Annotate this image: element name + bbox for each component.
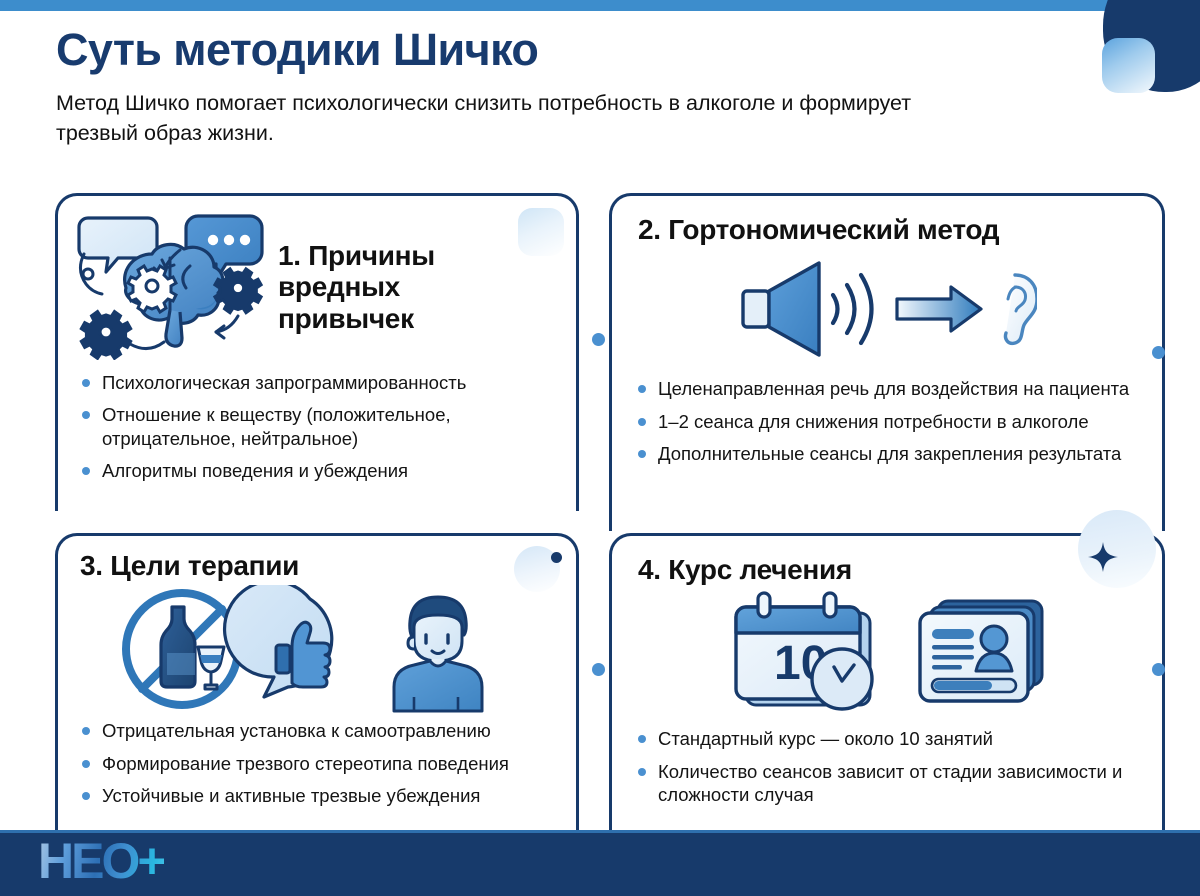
card-1-title: 1. Причины вредных привычек bbox=[270, 196, 480, 334]
page-footer: НЕО+ bbox=[0, 830, 1200, 896]
sparkle-icon bbox=[1088, 542, 1118, 572]
brain-gears-speech-icon bbox=[58, 196, 270, 365]
card-4-bullets: Стандартный курс — около 10 занятий Коли… bbox=[612, 727, 1162, 806]
speaker-arrow-ear-icon bbox=[612, 255, 1162, 363]
footer-top-rule bbox=[0, 830, 1200, 833]
card-1-bullets: Психологическая запрограммированность От… bbox=[58, 371, 576, 483]
list-item: 1–2 сеанса для снижения потребности в ал… bbox=[636, 410, 1140, 433]
list-item: Устойчивые и активные трезвые убеждения bbox=[80, 784, 554, 807]
card-hortonomic-method: 2. Гортономический метод bbox=[609, 193, 1165, 531]
card-4-title: 4. Курс лечения bbox=[612, 536, 1162, 585]
card-2-bullets: Целенаправленная речь для воздействия на… bbox=[612, 377, 1162, 465]
card-corner-dark-dot-decor bbox=[551, 552, 562, 563]
list-item: Отрицательная установка к самоотравлению bbox=[80, 719, 554, 742]
list-item: Стандартный курс — около 10 занятий bbox=[636, 727, 1140, 750]
connector-dot bbox=[592, 663, 605, 676]
list-item: Отношение к веществу (положительное, отр… bbox=[80, 403, 554, 450]
list-item: Формирование трезвого стереотипа поведен… bbox=[80, 752, 554, 775]
list-item: Психологическая запрограммированность bbox=[80, 371, 554, 394]
connector-dot bbox=[1152, 663, 1165, 676]
page-title: Суть методики Шичко bbox=[56, 26, 1076, 74]
card-therapy-goals: 3. Цели терапии bbox=[55, 533, 579, 833]
card-1-head: 1. Причины вредных привычек bbox=[58, 196, 576, 365]
top-accent-bar bbox=[0, 0, 1200, 11]
page-header: Суть методики Шичко Метод Шичко помогает… bbox=[56, 26, 1076, 149]
card-grid: 1. Причины вредных привычек Психологичес… bbox=[55, 193, 1165, 833]
list-item: Целенаправленная речь для воздействия на… bbox=[636, 377, 1140, 400]
connector-dot bbox=[1152, 346, 1165, 359]
card-treatment-course: 4. Курс лечения bbox=[609, 533, 1165, 833]
list-item: Дополнительные сеансы для закрепления ре… bbox=[636, 442, 1140, 465]
calendar-clock-cards-icon: 10 bbox=[612, 587, 1162, 717]
list-item: Количество сеансов зависит от стадии зав… bbox=[636, 760, 1140, 807]
page-subtitle: Метод Шичко помогает психологически сниз… bbox=[56, 88, 936, 149]
card-3-bullets: Отрицательная установка к самоотравлению… bbox=[58, 719, 576, 807]
list-item: Алгоритмы поведения и убеждения bbox=[80, 459, 554, 482]
brand-logo: НЕО+ bbox=[38, 836, 164, 886]
card-3-title: 3. Цели терапии bbox=[58, 536, 576, 581]
connector-dot bbox=[592, 333, 605, 346]
card-causes-of-bad-habits: 1. Причины вредных привычек Психологичес… bbox=[55, 193, 579, 511]
card-2-title: 2. Гортономический метод bbox=[612, 196, 1162, 245]
corner-gradient-square-decor bbox=[1102, 38, 1155, 93]
no-alcohol-thumbsup-person-icon bbox=[58, 585, 576, 713]
